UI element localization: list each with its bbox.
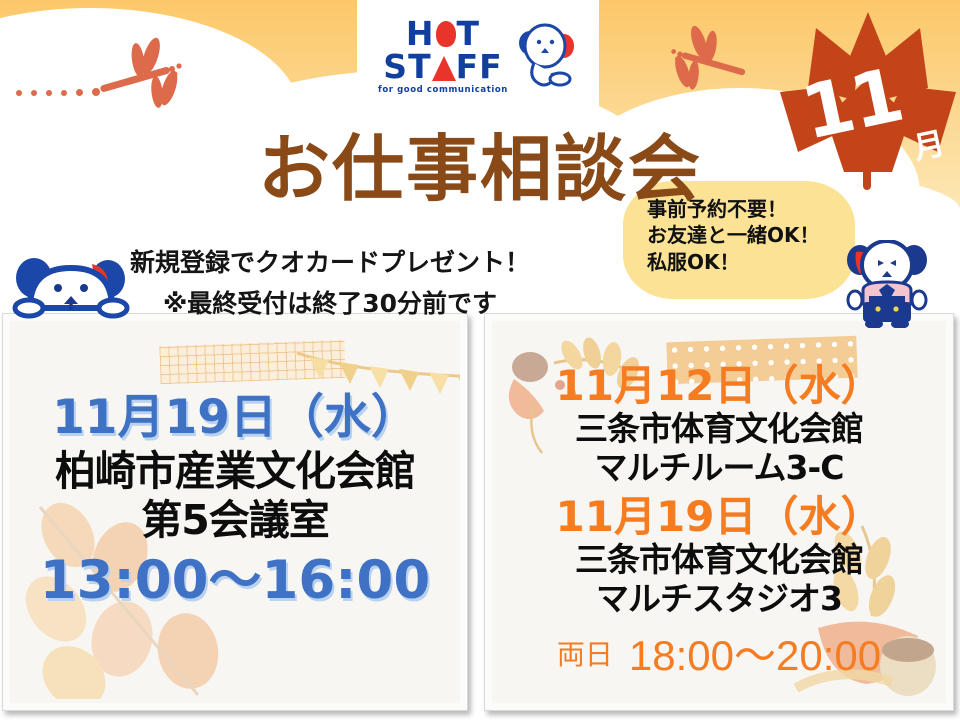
both-days-time-row: 両日 18:00〜20:00 bbox=[492, 622, 946, 683]
event-room-2: マルチスタジオ3 bbox=[492, 581, 946, 617]
peeking-dog-mascot-icon bbox=[12, 246, 130, 325]
logo-o-balloon-icon bbox=[435, 19, 457, 49]
logo-tagline: for good communication bbox=[378, 86, 508, 95]
event-room-1: マルチルーム3-C bbox=[492, 450, 946, 486]
event-venue-2: 三条市体育文化会館 bbox=[492, 542, 946, 578]
logo-ff: FF bbox=[456, 50, 503, 83]
hotstaff-logo: H T ST FF for good communication bbox=[357, 0, 599, 112]
event-date-1: 11月12日（水） bbox=[492, 363, 946, 408]
event-time: 13:00〜16:00 bbox=[10, 552, 460, 609]
notice-line-3: 私服OK！ bbox=[647, 249, 862, 275]
logo-line-1: H T bbox=[406, 17, 480, 50]
event-date-2: 11月19日（水） bbox=[492, 494, 946, 539]
logo-st: ST bbox=[383, 50, 431, 83]
logo-a-triangle-icon bbox=[432, 52, 456, 82]
event-venue-1: 三条市体育文化会館 bbox=[492, 411, 946, 447]
notice-line-1: 事前予約不要！ bbox=[647, 196, 862, 222]
both-days-label: 両日 bbox=[557, 633, 613, 673]
page-title: お仕事相談会 bbox=[0, 133, 960, 205]
event-panel-kashiwazaki: 11月19日（水） 柏崎市産業文化会館 第5会議室 13:00〜16:00 bbox=[2, 313, 468, 711]
flyer-canvas: 11 月 H T ST FF for good communication bbox=[0, 0, 960, 720]
logo-line-2: ST FF bbox=[383, 50, 502, 83]
event-time-both: 18:00〜20:00 bbox=[629, 622, 881, 683]
dragonfly-trail-dots bbox=[16, 88, 100, 96]
notice-bubble-text: 事前予約不要！ お友達と一緒OK！ 私服OK！ bbox=[647, 196, 862, 275]
notice-line-2: お友達と一緒OK！ bbox=[647, 222, 862, 248]
event-panel-sanjo: 11月12日（水） 三条市体育文化会館 マルチルーム3-C 11月19日（水） … bbox=[484, 313, 954, 711]
event-room: 第5会議室 bbox=[10, 498, 460, 542]
event-date: 11月19日（水） bbox=[10, 393, 460, 444]
hotstaff-dog-mascot-icon bbox=[514, 23, 578, 89]
event-venue: 柏崎市産業文化会館 bbox=[10, 449, 460, 493]
dragonfly-icon-right bbox=[650, 24, 750, 90]
dragonfly-icon bbox=[95, 36, 205, 108]
logo-t: T bbox=[457, 17, 481, 50]
logo-h: H bbox=[406, 17, 435, 50]
standing-dog-mascot-icon bbox=[838, 240, 938, 333]
